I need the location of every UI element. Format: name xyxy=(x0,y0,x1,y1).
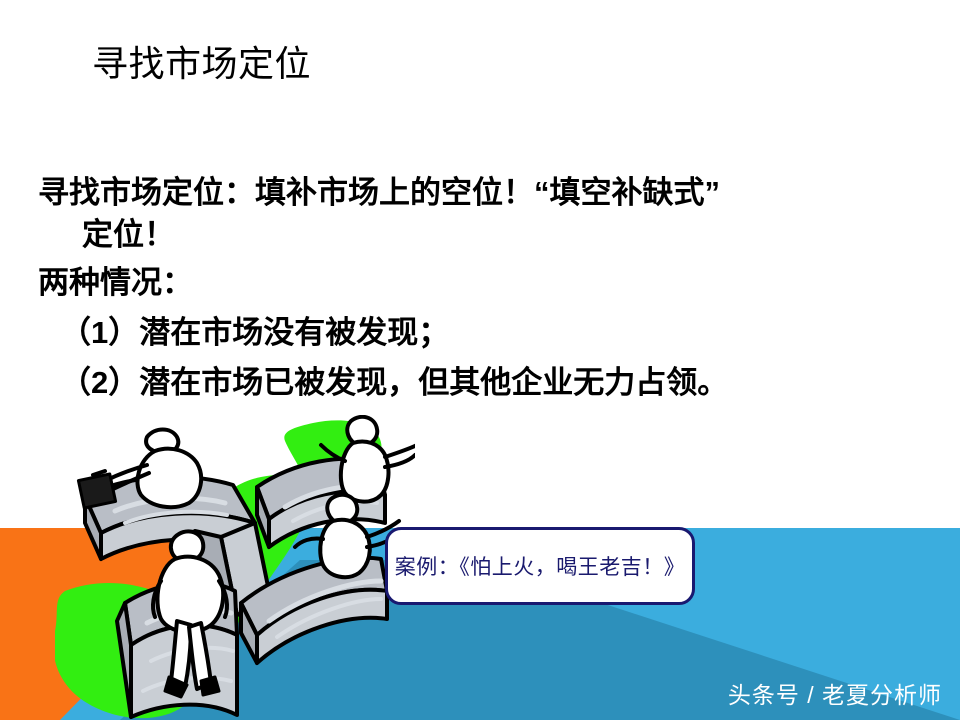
slide-canvas: 寻找市场定位 寻找市场定位：填补市场上的空位！“填空补缺式” 定位！ 两种情况：… xyxy=(0,0,960,720)
lead-line-1: 寻找市场定位：填补市场上的空位！“填空补缺式” xyxy=(38,175,720,210)
lead-line-2: 定位！ xyxy=(38,214,928,256)
briefcase-icon xyxy=(78,474,115,508)
page-title: 寻找市场定位 xyxy=(92,42,311,86)
case-callout-text: 案例：《怕上火，喝王老吉！》 xyxy=(395,551,686,581)
case-callout-box[interactable]: 案例：《怕上火，喝王老吉！》 xyxy=(385,527,695,605)
list-item-1: （1）潜在市场没有被发现； xyxy=(38,312,928,354)
two-kinds-label: 两种情况： xyxy=(38,262,928,304)
lead-paragraph: 寻找市场定位：填补市场上的空位！“填空补缺式” 定位！ xyxy=(38,172,928,256)
illustration-people-crossing-bridges xyxy=(55,415,415,720)
body-text-block: 寻找市场定位：填补市场上的空位！“填空补缺式” 定位！ 两种情况： （1）潜在市… xyxy=(38,172,928,406)
footer-watermark: 头条号 / 老夏分析师 xyxy=(728,676,942,710)
figure-businessman xyxy=(78,430,201,509)
list-item-2: （2）潜在市场已被发现，但其他企业无力占领。 xyxy=(38,362,928,404)
